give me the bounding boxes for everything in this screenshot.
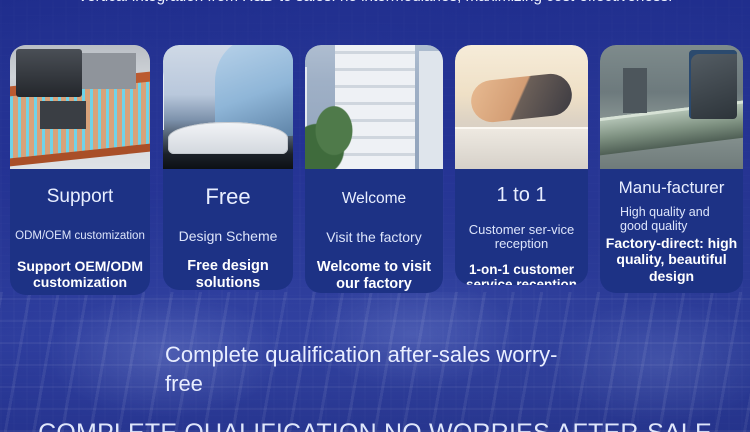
card-subtitle: Visit the factory: [309, 230, 439, 246]
feature-card-row: Support ODM/OEM customization Support OE…: [0, 45, 750, 295]
card-description: 1-on-1 customer service reception: [459, 262, 584, 285]
card-panel: Welcome Visit the factory Welcome to vis…: [305, 45, 443, 293]
card-title: Manu-facturer: [604, 179, 739, 197]
card-description: Factory-direct: high quality, beautiful …: [604, 235, 739, 283]
card-body: 1 to 1 Customer ser-vice reception 1-on-…: [455, 169, 588, 285]
card-body: Support ODM/OEM customization Support OE…: [10, 169, 150, 295]
smt-assembly-machine-photo: [10, 45, 150, 169]
factory-building-photo: [305, 45, 443, 169]
card-description: Support OEM/ODM customization: [14, 258, 146, 290]
feature-card-one-to-one[interactable]: 1 to 1 Customer ser-vice reception 1-on-…: [455, 45, 588, 285]
page-headline: Vertical integration from R&D to sales: …: [0, 0, 750, 6]
bottom-headline: Complete qualification after-sales worry…: [165, 340, 585, 398]
card-panel: 1 to 1 Customer ser-vice reception 1-on-…: [455, 45, 588, 285]
card-body: Manu-facturer High quality and good qual…: [600, 169, 743, 292]
card-body: Free Design Scheme Free design solutions: [163, 169, 293, 290]
card-subtitle: Customer ser-vice reception: [459, 223, 584, 252]
card-panel: Support ODM/OEM customization Support OE…: [10, 45, 150, 295]
card-panel: Free Design Scheme Free design solutions: [163, 45, 293, 290]
card-description: Welcome to visit our factory: [309, 259, 439, 292]
card-subtitle: ODM/OEM customization: [14, 230, 146, 243]
card-title: Welcome: [309, 191, 439, 208]
card-panel: Manu-facturer High quality and good qual…: [600, 45, 743, 293]
feature-card-manufacturer[interactable]: Manu-facturer High quality and good qual…: [600, 45, 743, 293]
handshake-photo: [455, 45, 588, 169]
feature-card-welcome-visit[interactable]: Welcome Visit the factory Welcome to vis…: [305, 45, 443, 293]
feature-card-free-design[interactable]: Free Design Scheme Free design solutions: [163, 45, 293, 290]
feature-card-support[interactable]: Support ODM/OEM customization Support OE…: [10, 45, 150, 295]
bottom-subheadline: COMPLETE QUALIFICATION NO WORRIES AFTER-…: [0, 419, 750, 432]
card-body: Welcome Visit the factory Welcome to vis…: [305, 169, 443, 293]
bottom-banner: Complete qualification after-sales worry…: [0, 340, 750, 398]
card-title: 1 to 1: [459, 185, 584, 207]
card-title: Free: [167, 185, 289, 209]
conveyor-production-line-photo: [600, 45, 743, 169]
business-meeting-documents-photo: [163, 45, 293, 169]
card-title: Support: [14, 187, 146, 208]
card-subtitle: High quality and good quality: [604, 205, 739, 233]
card-description: Free design solutions: [167, 258, 289, 290]
card-subtitle: Design Scheme: [167, 229, 289, 245]
